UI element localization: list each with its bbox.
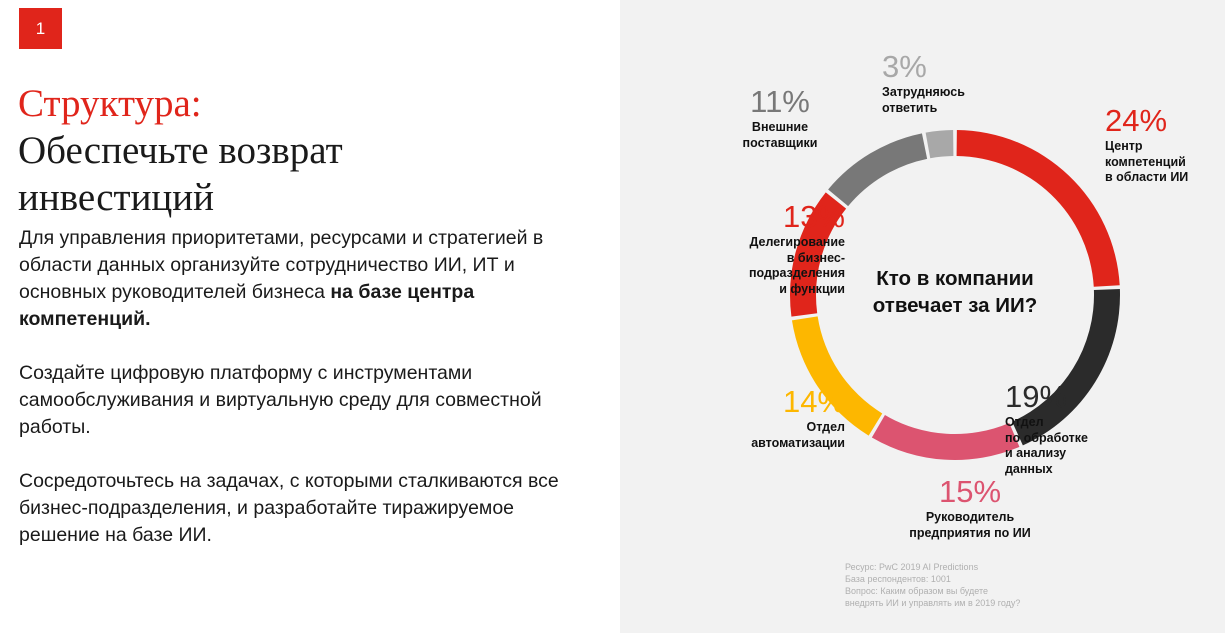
source-line-3: Вопрос: Каким образом вы будете bbox=[845, 585, 1165, 597]
source-line-4: внедрять ИИ и управлять им в 2019 году? bbox=[845, 597, 1165, 609]
slice-pct: 13% bbox=[630, 200, 845, 234]
slice-pct: 3% bbox=[882, 50, 1022, 84]
source-note: Ресурс: PwC 2019 AI Predictions База рес… bbox=[845, 561, 1165, 609]
slice-pct: 11% bbox=[710, 85, 850, 119]
slice-pct: 19% bbox=[1005, 380, 1125, 414]
slice-label-data-department: 19% Отделпо обработкеи анализуданных bbox=[1005, 380, 1125, 477]
slice-name: Затрудняюсьответить bbox=[882, 85, 1022, 116]
slice-name: Отделавтоматизации bbox=[650, 420, 845, 451]
paragraph-3: Сосредоточьтесь на задачах, с которыми с… bbox=[19, 468, 599, 549]
page-title-accent: Структура: bbox=[18, 80, 598, 127]
step-number-badge: 1 bbox=[19, 8, 62, 49]
slice-name: Руководительпредприятия по ИИ bbox=[870, 510, 1070, 541]
slice-name: Центркомпетенцийв области ИИ bbox=[1105, 139, 1225, 186]
chart-panel: Кто в компании отвечает за ИИ? 24% Центр… bbox=[620, 0, 1225, 633]
body-copy: Для управления приоритетами, ресурсами и… bbox=[19, 225, 599, 549]
source-line-2: База респондентов: 1001 bbox=[845, 573, 1165, 585]
source-line-1: Ресурс: PwC 2019 AI Predictions bbox=[845, 561, 1165, 573]
page-title-line2: инвестиций bbox=[18, 174, 598, 221]
left-content-panel: 1 Структура: Обеспечьте возврат инвестиц… bbox=[0, 0, 620, 633]
donut-slice-6 bbox=[926, 130, 954, 158]
slice-label-automation-department: 14% Отделавтоматизации bbox=[650, 385, 845, 451]
paragraph-2: Создайте цифровую платформу с инструмент… bbox=[19, 360, 599, 441]
donut-chart: Кто в компании отвечает за ИИ? 24% Центр… bbox=[620, 0, 1225, 633]
slice-pct: 14% bbox=[650, 385, 845, 419]
paragraph-1: Для управления приоритетами, ресурсами и… bbox=[19, 225, 599, 333]
slice-name: Делегированиев бизнес-подразделенияи фун… bbox=[630, 235, 845, 297]
center-question-line1: Кто в компании bbox=[805, 265, 1105, 292]
step-number-text: 1 bbox=[36, 19, 45, 39]
center-question-line2: отвечает за ИИ? bbox=[805, 292, 1105, 319]
slice-name: Отделпо обработкеи анализуданных bbox=[1005, 415, 1125, 477]
donut-slice-2 bbox=[872, 415, 1020, 460]
slice-label-unsure: 3% Затрудняюсьответить bbox=[882, 50, 1022, 116]
donut-slice-0 bbox=[957, 130, 1120, 287]
page-title: Структура: Обеспечьте возврат инвестиций bbox=[18, 80, 598, 221]
slice-label-competency-center: 24% Центркомпетенцийв области ИИ bbox=[1105, 104, 1225, 186]
slice-pct: 15% bbox=[870, 475, 1070, 509]
page-title-line1: Обеспечьте возврат bbox=[18, 127, 598, 174]
slice-label-delegation: 13% Делегированиев бизнес-подразделенияи… bbox=[630, 200, 845, 297]
slice-name: Внешниепоставщики bbox=[710, 120, 850, 151]
slice-label-ai-executive: 15% Руководительпредприятия по ИИ bbox=[870, 475, 1070, 541]
donut-center-question: Кто в компании отвечает за ИИ? bbox=[805, 265, 1105, 319]
slice-label-external-vendors: 11% Внешниепоставщики bbox=[710, 85, 850, 151]
slice-pct: 24% bbox=[1105, 104, 1225, 138]
